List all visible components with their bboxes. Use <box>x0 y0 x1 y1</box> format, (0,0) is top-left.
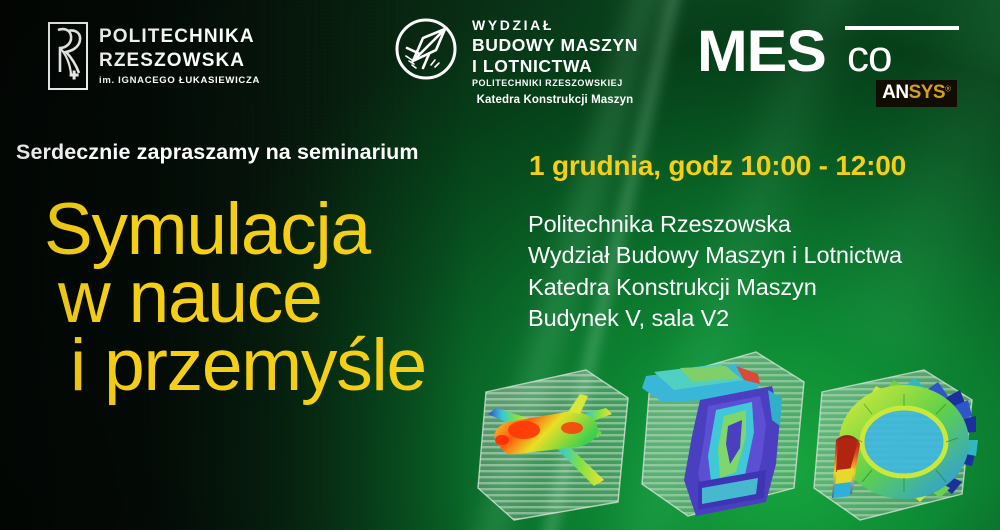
vignette-overlay <box>0 0 1000 530</box>
seminar-poster: POLITECHNIKA RZESZOWSKA im. IGNACEGO ŁUK… <box>0 0 1000 530</box>
